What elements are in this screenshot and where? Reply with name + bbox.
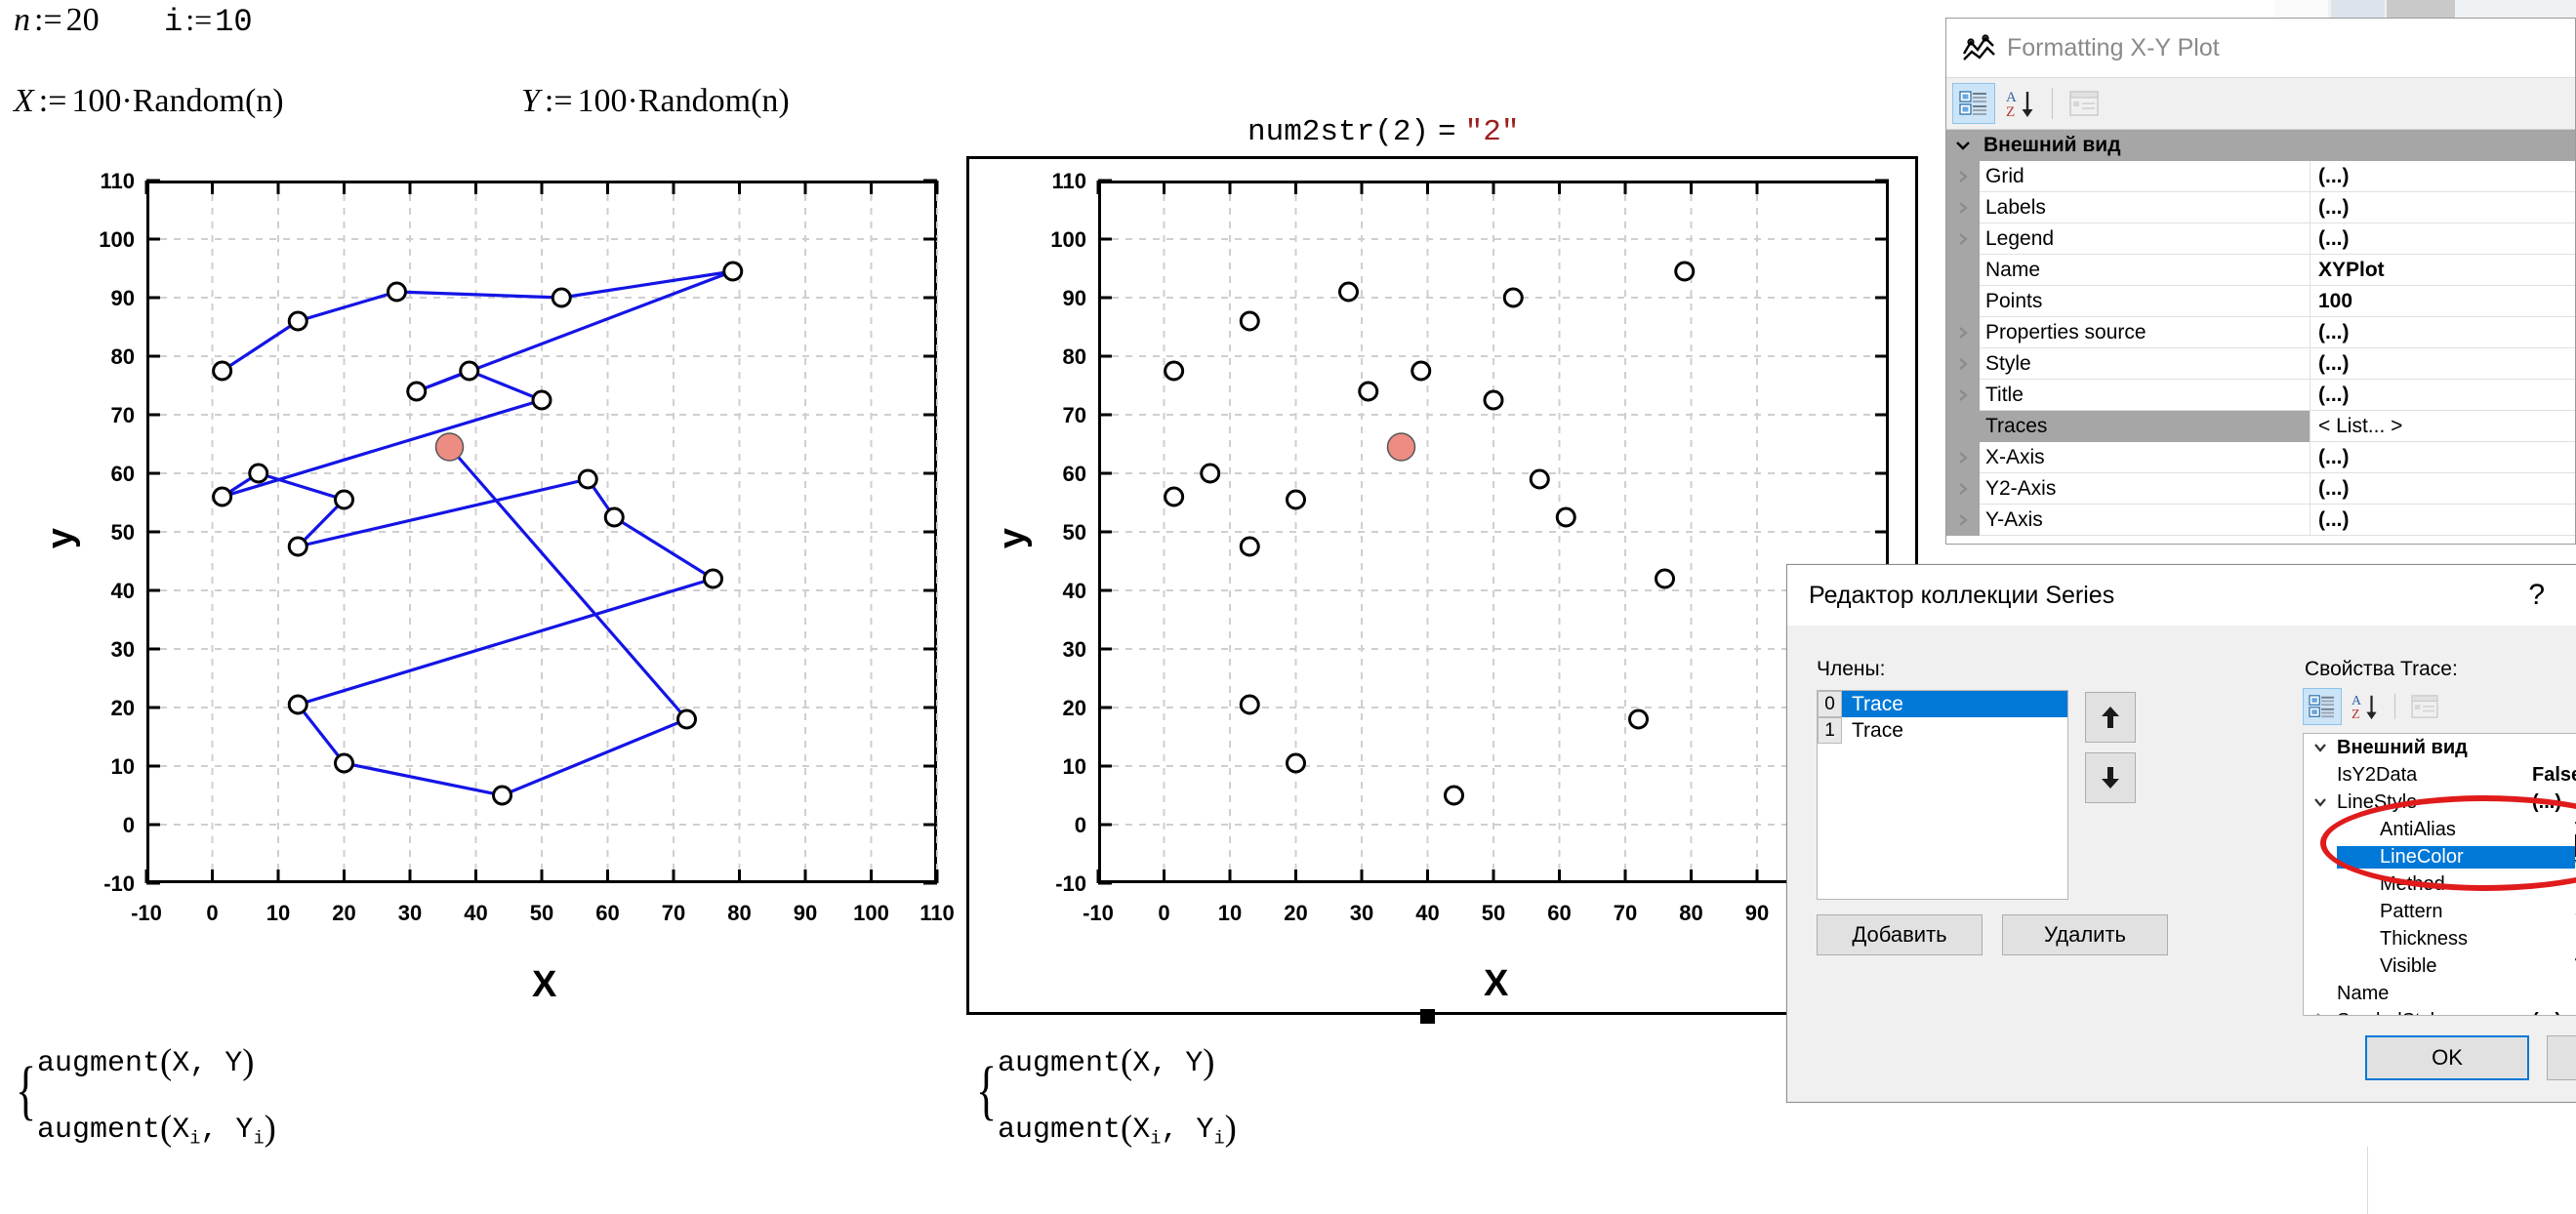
svg-text:0: 0 xyxy=(206,901,218,925)
svg-text:90: 90 xyxy=(111,286,135,310)
svg-text:50: 50 xyxy=(1063,520,1086,545)
move-up-button[interactable] xyxy=(2085,692,2136,743)
trace-property-row-linestyle[interactable]: LineStyle(...) xyxy=(2304,789,2576,816)
trace-property-row-antialias[interactable]: AntiAliasTrue xyxy=(2304,816,2576,843)
svg-text:30: 30 xyxy=(1063,637,1086,662)
property-name: Style xyxy=(1980,348,2310,380)
svg-text:60: 60 xyxy=(111,462,135,486)
svg-text:A: A xyxy=(2006,90,2017,105)
property-name: Legend xyxy=(1980,223,2310,255)
svg-text:10: 10 xyxy=(1063,754,1086,779)
left-plot-ylabel: y xyxy=(40,528,82,548)
augment-row-2: augment(Xi, Yi) xyxy=(37,1096,276,1172)
property-pages-icon[interactable] xyxy=(2063,83,2106,124)
member-index: 0 xyxy=(1818,691,1842,717)
categorized-icon-2[interactable] xyxy=(2303,688,2342,725)
value-i: 10 xyxy=(215,4,252,40)
trace-property-row-visible[interactable]: VisibleTrue xyxy=(2304,952,2576,980)
property-row-grid[interactable]: Grid(...) xyxy=(1946,161,2575,192)
expand-icon[interactable] xyxy=(1946,348,1980,380)
property-row-points[interactable]: Points100 xyxy=(1946,286,2575,317)
property-value[interactable]: XYPlot xyxy=(2310,255,2575,286)
right-plot-ylabel: y xyxy=(992,528,1034,548)
trace-property-value[interactable]: False xyxy=(2532,764,2576,787)
expand-icon[interactable] xyxy=(1946,161,1980,192)
trace-property-row-symbolstyle[interactable]: SymbolStyle(...) xyxy=(2304,1007,2576,1016)
property-name: X-Axis xyxy=(1980,442,2310,473)
property-name: Labels xyxy=(1980,192,2310,223)
left-xy-plot[interactable]: -100102030405060708090100110-10010203040… xyxy=(0,166,957,1025)
expand-icon xyxy=(1946,411,1980,442)
property-row-legend[interactable]: Legend(...) xyxy=(1946,223,2575,255)
augment-block-left[interactable]: { augment(X, Y) augment(Xi, Yi) xyxy=(16,1030,276,1172)
property-value[interactable]: (...) xyxy=(2310,161,2575,192)
expand-icon[interactable] xyxy=(1946,442,1980,473)
svg-text:-10: -10 xyxy=(131,901,162,925)
expr-Y: 100·Random(n) xyxy=(578,83,790,119)
svg-text:60: 60 xyxy=(1063,462,1086,486)
add-member-button[interactable]: Добавить xyxy=(1817,914,1983,955)
right-xy-plot[interactable]: -100102030405060708090100110-10010203040… xyxy=(961,148,1928,1027)
assign-op-i: := xyxy=(185,2,212,37)
left-brace: { xyxy=(16,1041,36,1141)
left-brace-2: { xyxy=(976,1041,997,1141)
expand-icon[interactable] xyxy=(1946,380,1980,411)
trace-property-name: Visible xyxy=(2337,955,2575,978)
dialog-title-text: Редактор коллекции Series xyxy=(1809,582,2114,610)
trace-property-row-method[interactable]: MethodLines xyxy=(2304,870,2576,898)
property-value[interactable]: (...) xyxy=(2310,442,2575,473)
property-row-name[interactable]: NameXYPlot xyxy=(1946,255,2575,286)
svg-text:30: 30 xyxy=(398,901,422,925)
svg-text:60: 60 xyxy=(1547,901,1571,925)
assignment-i[interactable]: i:=10 xyxy=(164,2,253,40)
svg-text:60: 60 xyxy=(595,901,619,925)
svg-text:30: 30 xyxy=(111,637,135,662)
assignment-X[interactable]: X:=100·Random(n) xyxy=(14,83,284,120)
series-collection-editor-dialog[interactable]: Редактор коллекции Series ? Члены: 0Trac… xyxy=(1786,564,2576,1103)
chevron-down-icon xyxy=(1954,134,1972,157)
svg-text:-10: -10 xyxy=(103,871,135,896)
svg-text:110: 110 xyxy=(101,169,136,193)
property-name: Y-Axis xyxy=(1980,505,2310,536)
trace-property-row-linecolor[interactable]: LineColorWhite xyxy=(2304,843,2576,870)
assignment-Y[interactable]: Y:=100·Random(n) xyxy=(521,83,790,120)
svg-text:-10: -10 xyxy=(1083,901,1114,925)
assign-op-X: := xyxy=(39,83,67,119)
add-member-label: Добавить xyxy=(1852,922,1946,948)
help-icon[interactable]: ? xyxy=(2528,579,2545,612)
panel-titlebar: Formatting X-Y Plot xyxy=(1946,19,2575,78)
cancel-button[interactable]: Отм xyxy=(2547,1035,2576,1080)
expand-icon[interactable] xyxy=(1946,192,1980,223)
augment-row-2b: augment(Xi, Yi) xyxy=(998,1096,1237,1172)
svg-text:Z: Z xyxy=(2006,104,2015,118)
property-row-x-axis[interactable]: X-Axis(...) xyxy=(1946,442,2575,473)
svg-text:-10: -10 xyxy=(1055,871,1086,896)
expand-icon xyxy=(1946,255,1980,286)
property-value[interactable]: (...) xyxy=(2310,473,2575,505)
members-listbox[interactable]: 0Trace1Trace xyxy=(1817,690,2068,900)
panel-property-list[interactable]: Grid(...)Labels(...)Legend(...)NameXYPlo… xyxy=(1946,161,2575,536)
ok-button-label: OK xyxy=(2432,1045,2463,1071)
property-name: Grid xyxy=(1980,161,2310,192)
property-pages-icon-2[interactable] xyxy=(2405,688,2444,725)
svg-text:Z: Z xyxy=(2351,708,2360,720)
remove-member-label: Удалить xyxy=(2044,922,2126,948)
trace-props-toolbar[interactable]: A Z xyxy=(2303,688,2444,725)
app-vertical-rule xyxy=(2367,1147,2368,1214)
svg-text:50: 50 xyxy=(1482,901,1505,925)
member-label: Trace xyxy=(1842,693,1903,716)
trace-property-value[interactable]: (...) xyxy=(2532,791,2576,814)
trace-props-label: Свойства Trace: xyxy=(2305,658,2458,681)
expand-icon[interactable] xyxy=(1946,473,1980,505)
trace-props-category[interactable]: Внешний вид xyxy=(2304,734,2576,761)
property-row-properties-source[interactable]: Properties source(...) xyxy=(1946,317,2575,348)
equals-sign: = xyxy=(1438,115,1456,149)
value-n: 20 xyxy=(66,2,100,38)
property-row-labels[interactable]: Labels(...) xyxy=(1946,192,2575,223)
trace-property-value-text: (...) xyxy=(2532,791,2561,813)
svg-text:20: 20 xyxy=(1063,696,1086,720)
expand-icon[interactable] xyxy=(1946,223,1980,255)
property-name: Y2-Axis xyxy=(1980,473,2310,505)
svg-text:100: 100 xyxy=(853,901,889,925)
member-list-item[interactable]: 1Trace xyxy=(1818,717,2067,744)
member-list-item[interactable]: 0Trace xyxy=(1818,691,2067,717)
property-name: Traces xyxy=(1980,411,2310,442)
trace-property-name: SymbolStyle xyxy=(2337,1010,2532,1017)
expand-icon[interactable] xyxy=(1946,317,1980,348)
expr-X: 100·Random(n) xyxy=(71,83,283,119)
svg-text:50: 50 xyxy=(111,520,135,545)
left-plot-xlabel: X xyxy=(532,964,556,1006)
panel-title-text: Formatting X-Y Plot xyxy=(2007,34,2220,62)
property-value[interactable]: (...) xyxy=(2310,192,2575,223)
trace-props-grid[interactable]: Внешний видIsY2DataFalseLineStyle(...)An… xyxy=(2303,733,2576,1016)
alphabetical-sort-icon[interactable]: A Z xyxy=(1999,83,2042,124)
svg-text:80: 80 xyxy=(727,901,751,925)
svg-text:20: 20 xyxy=(1284,901,1307,925)
trace-property-value[interactable]: (...) xyxy=(2532,1010,2576,1017)
svg-text:0: 0 xyxy=(1075,813,1086,837)
num2str-call: num2str(2) xyxy=(1247,115,1429,149)
svg-text:90: 90 xyxy=(1063,286,1086,310)
expand-icon xyxy=(1946,286,1980,317)
svg-text:20: 20 xyxy=(332,901,355,925)
trace-property-name: LineStyle xyxy=(2337,791,2532,814)
property-row-y2-axis[interactable]: Y2-Axis(...) xyxy=(1946,473,2575,505)
property-value[interactable]: (...) xyxy=(2310,505,2575,536)
trace-property-row-pattern[interactable]: PatternSolid xyxy=(2304,898,2576,925)
svg-text:70: 70 xyxy=(1063,403,1086,427)
svg-text:40: 40 xyxy=(1063,579,1086,603)
svg-text:100: 100 xyxy=(99,227,135,252)
alphabetical-sort-icon-2[interactable]: A Z xyxy=(2346,688,2385,725)
svg-text:70: 70 xyxy=(111,403,135,427)
dialog-titlebar: Редактор коллекции Series ? xyxy=(1787,565,2576,626)
var-n: n xyxy=(14,2,30,38)
expand-icon[interactable] xyxy=(1946,505,1980,536)
trace-property-name: Pattern xyxy=(2337,901,2575,923)
property-row-y-axis[interactable]: Y-Axis(...) xyxy=(1946,505,2575,536)
expand-icon[interactable] xyxy=(2304,1011,2337,1017)
property-name: Properties source xyxy=(1980,317,2310,348)
trace-property-row-name[interactable]: Name xyxy=(2304,980,2576,1007)
trace-property-name: Name xyxy=(2337,983,2532,1005)
svg-text:80: 80 xyxy=(111,344,135,369)
svg-text:110: 110 xyxy=(920,901,955,925)
svg-text:110: 110 xyxy=(1052,169,1087,193)
property-name: Title xyxy=(1980,380,2310,411)
xy-plot-icon xyxy=(1962,34,1995,61)
formatting-xy-plot-panel[interactable]: Formatting X-Y Plot A Z xyxy=(1945,18,2576,545)
toolbar-separator-2 xyxy=(2394,694,2395,719)
expand-icon[interactable] xyxy=(2304,792,2337,813)
svg-text:0: 0 xyxy=(123,813,135,837)
property-row-title[interactable]: Title(...) xyxy=(1946,380,2575,411)
panel-category-header[interactable]: Внешний вид xyxy=(1946,130,2575,161)
trace-property-name: AntiAlias xyxy=(2337,819,2575,841)
property-value[interactable]: 100 xyxy=(2310,286,2575,317)
svg-text:90: 90 xyxy=(794,901,817,925)
member-index: 1 xyxy=(1818,717,1842,744)
svg-text:10: 10 xyxy=(111,754,135,779)
svg-text:40: 40 xyxy=(1415,901,1439,925)
augment-row-1: augment(X, Y) xyxy=(37,1030,276,1096)
var-X: X xyxy=(14,83,34,119)
var-Y: Y xyxy=(521,83,540,119)
move-down-button[interactable] xyxy=(2085,752,2136,803)
members-label: Члены: xyxy=(1817,658,1885,681)
trace-property-value-text: (...) xyxy=(2532,1010,2561,1017)
svg-text:30: 30 xyxy=(1350,901,1373,925)
property-name: Points xyxy=(1980,286,2310,317)
svg-text:90: 90 xyxy=(1745,901,1769,925)
toolbar-separator xyxy=(2052,88,2053,119)
svg-text:0: 0 xyxy=(1158,901,1169,925)
right-plot-xlabel: X xyxy=(1484,963,1508,1005)
property-row-style[interactable]: Style(...) xyxy=(1946,348,2575,380)
chevron-down-icon-2 xyxy=(2304,738,2337,758)
trace-property-row-thickness[interactable]: Thickness1 xyxy=(2304,925,2576,952)
svg-text:10: 10 xyxy=(266,901,290,925)
svg-text:80: 80 xyxy=(1063,344,1086,369)
property-value[interactable]: (...) xyxy=(2310,223,2575,255)
trace-property-name: LineColor xyxy=(2337,846,2575,869)
right-plot-canvas: -100102030405060708090100110-10010203040… xyxy=(961,148,1928,1027)
svg-text:100: 100 xyxy=(1050,227,1086,252)
trace-props-category-label: Внешний вид xyxy=(2337,737,2576,759)
property-value[interactable]: (...) xyxy=(2310,348,2575,380)
panel-toolbar[interactable]: A Z xyxy=(1946,78,2575,130)
member-label: Trace xyxy=(1842,719,1903,743)
assignment-n[interactable]: n:=20 xyxy=(14,2,100,39)
app-background-right xyxy=(1945,1117,2576,1214)
trace-property-name: Thickness xyxy=(2337,928,2575,951)
augment-row-1b: augment(X, Y) xyxy=(998,1030,1237,1096)
trace-property-row-isy2data[interactable]: IsY2DataFalse xyxy=(2304,761,2576,789)
remove-member-button[interactable]: Удалить xyxy=(2002,914,2168,955)
svg-text:70: 70 xyxy=(1614,901,1637,925)
ok-button[interactable]: OK xyxy=(2365,1035,2529,1080)
assign-op-Y: := xyxy=(545,83,573,119)
property-value[interactable]: < List... > xyxy=(2310,411,2575,442)
svg-text:70: 70 xyxy=(662,901,685,925)
augment-block-right[interactable]: { augment(X, Y) augment(Xi, Yi) xyxy=(976,1030,1237,1172)
left-plot-canvas: -100102030405060708090100110-10010203040… xyxy=(0,166,957,1025)
svg-text:40: 40 xyxy=(464,901,487,925)
property-value[interactable]: (...) xyxy=(2310,380,2575,411)
categorized-icon[interactable] xyxy=(1952,83,1995,124)
trace-property-name: Method xyxy=(2337,873,2575,896)
property-value[interactable]: (...) xyxy=(2310,317,2575,348)
svg-text:10: 10 xyxy=(1218,901,1242,925)
property-name: Name xyxy=(1980,255,2310,286)
trace-property-name: IsY2Data xyxy=(2337,764,2532,787)
num2str-expression[interactable]: num2str(2)="2" xyxy=(1247,115,1519,149)
svg-text:20: 20 xyxy=(111,696,135,720)
num2str-result: "2" xyxy=(1465,115,1520,149)
panel-category-label: Внешний вид xyxy=(1983,134,2121,157)
svg-text:50: 50 xyxy=(530,901,553,925)
assign-op-n: := xyxy=(34,2,62,38)
svg-text:80: 80 xyxy=(1679,901,1702,925)
svg-text:A: A xyxy=(2351,694,2362,708)
property-row-traces[interactable]: Traces< List... > xyxy=(1946,411,2575,442)
trace-property-value-text: False xyxy=(2532,764,2576,786)
svg-text:40: 40 xyxy=(111,579,135,603)
var-i: i xyxy=(164,4,183,40)
